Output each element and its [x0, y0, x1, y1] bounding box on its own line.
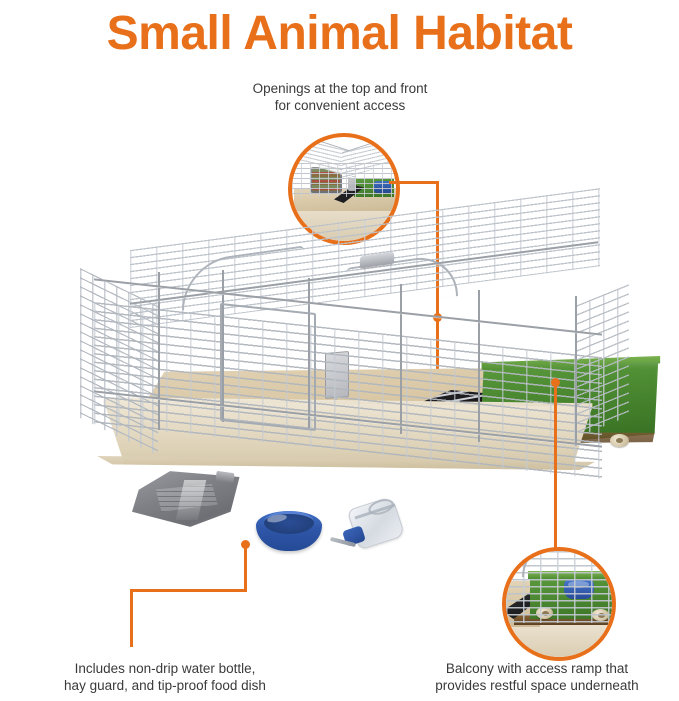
caption-bottom-left: Includes non-drip water bottle, hay guar… — [10, 660, 320, 694]
balcony-latch-knob-right[interactable] — [610, 434, 629, 447]
infographic-page: Small Animal Habitat Openings at the top… — [0, 0, 679, 701]
connector-top-horizontal — [389, 181, 439, 184]
product-cage-image — [70, 250, 630, 475]
caption-top: Openings at the top and front for conven… — [180, 80, 500, 114]
connector-bl-vertical-lower — [130, 589, 133, 647]
page-title: Small Animal Habitat — [0, 4, 679, 64]
callout-top-artwork — [292, 137, 396, 241]
hay-guard — [132, 470, 244, 528]
callout-balcony-artwork — [506, 551, 612, 657]
food-dish — [256, 505, 322, 553]
connector-br-vertical — [554, 383, 557, 551]
callout-circle-top-opening — [288, 133, 400, 245]
caption-bottom-right: Balcony with access ramp that provides r… — [395, 660, 679, 694]
connector-bl-vertical-upper — [244, 546, 247, 590]
connector-bl-horizontal — [130, 589, 247, 592]
callout-circle-balcony — [502, 547, 616, 661]
water-bottle-bracket — [325, 351, 349, 399]
water-bottle — [330, 502, 402, 564]
